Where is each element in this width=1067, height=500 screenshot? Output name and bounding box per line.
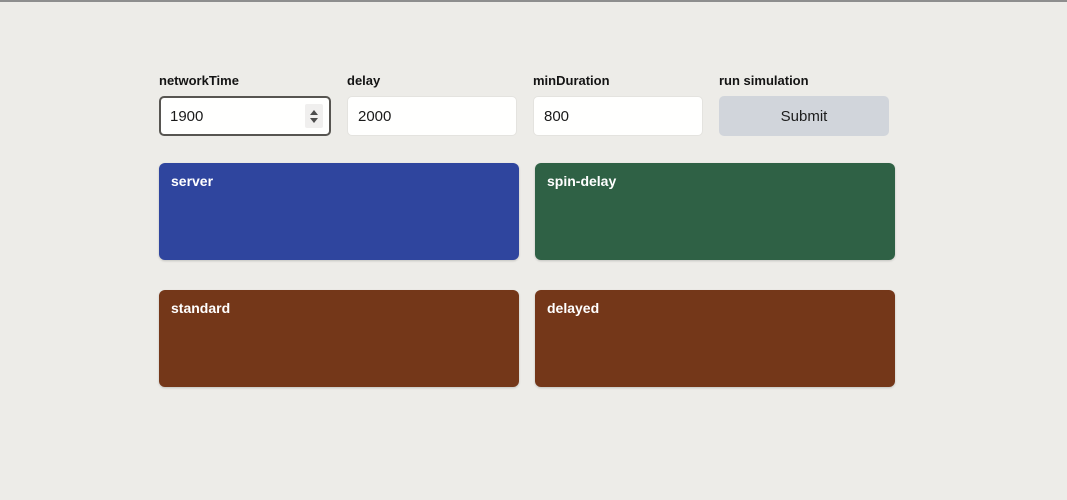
simulation-form: networkTime delay minDuration — [159, 70, 895, 136]
field-label-run-simulation: run simulation — [719, 73, 889, 88]
panel-spin-delay: spin-delay — [535, 163, 895, 260]
browser-chrome-edge — [0, 0, 1067, 2]
chevron-up-icon[interactable] — [310, 110, 318, 115]
network-time-stepper[interactable] — [305, 104, 323, 128]
min-duration-input-wrap — [533, 96, 703, 136]
chevron-down-icon[interactable] — [310, 118, 318, 123]
field-delay: delay — [347, 73, 517, 136]
panel-standard: standard — [159, 290, 519, 387]
simulation-app: networkTime delay minDuration — [159, 70, 895, 387]
delay-input[interactable] — [347, 96, 517, 136]
field-min-duration: minDuration — [533, 73, 703, 136]
panel-title: server — [171, 173, 507, 189]
submit-button[interactable]: Submit — [719, 96, 889, 136]
panel-server: server — [159, 163, 519, 260]
panel-title: standard — [171, 300, 507, 316]
field-label-min-duration: minDuration — [533, 73, 703, 88]
min-duration-input[interactable] — [533, 96, 703, 136]
panel-title: delayed — [547, 300, 883, 316]
field-label-network-time: networkTime — [159, 73, 331, 88]
submit-button-wrap: Submit — [719, 96, 889, 136]
panel-delayed: delayed — [535, 290, 895, 387]
simulation-panel-grid: server spin-delay standard delayed — [159, 163, 895, 387]
field-network-time: networkTime — [159, 73, 331, 136]
panel-title: spin-delay — [547, 173, 883, 189]
network-time-input-wrap — [159, 96, 331, 136]
field-label-delay: delay — [347, 73, 517, 88]
delay-input-wrap — [347, 96, 517, 136]
field-run-simulation: run simulation Submit — [719, 73, 889, 136]
